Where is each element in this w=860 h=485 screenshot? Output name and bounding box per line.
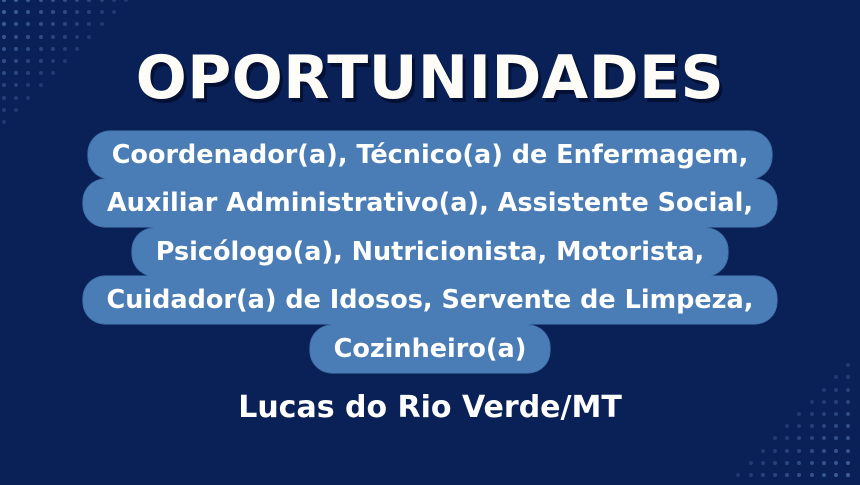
role-line: Cuidador(a) de Idosos, Servente de Limpe… — [83, 276, 778, 324]
role-line-text: Coordenador(a), Técnico(a) de Enfermagem… — [88, 131, 773, 179]
city-label: Lucas do Rio Verde/MT — [0, 390, 860, 425]
role-line: Auxiliar Administrativo(a), Assistente S… — [83, 179, 777, 227]
role-line: Coordenador(a), Técnico(a) de Enfermagem… — [88, 131, 773, 179]
role-line: Psicólogo(a), Nutricionista, Motorista, — [132, 228, 729, 276]
roles-list: Coordenador(a), Técnico(a) de Enfermagem… — [0, 131, 860, 373]
role-line-text: Cuidador(a) de Idosos, Servente de Limpe… — [83, 276, 778, 324]
role-line-text: Cozinheiro(a) — [310, 325, 551, 373]
role-line-text: Auxiliar Administrativo(a), Assistente S… — [83, 179, 777, 227]
role-line-text: Psicólogo(a), Nutricionista, Motorista, — [132, 228, 729, 276]
page-title: OPORTUNIDADES — [0, 47, 860, 110]
job-opportunities-poster: OPORTUNIDADES Coordenador(a), Técnico(a)… — [0, 0, 860, 485]
role-line: Cozinheiro(a) — [310, 325, 551, 373]
